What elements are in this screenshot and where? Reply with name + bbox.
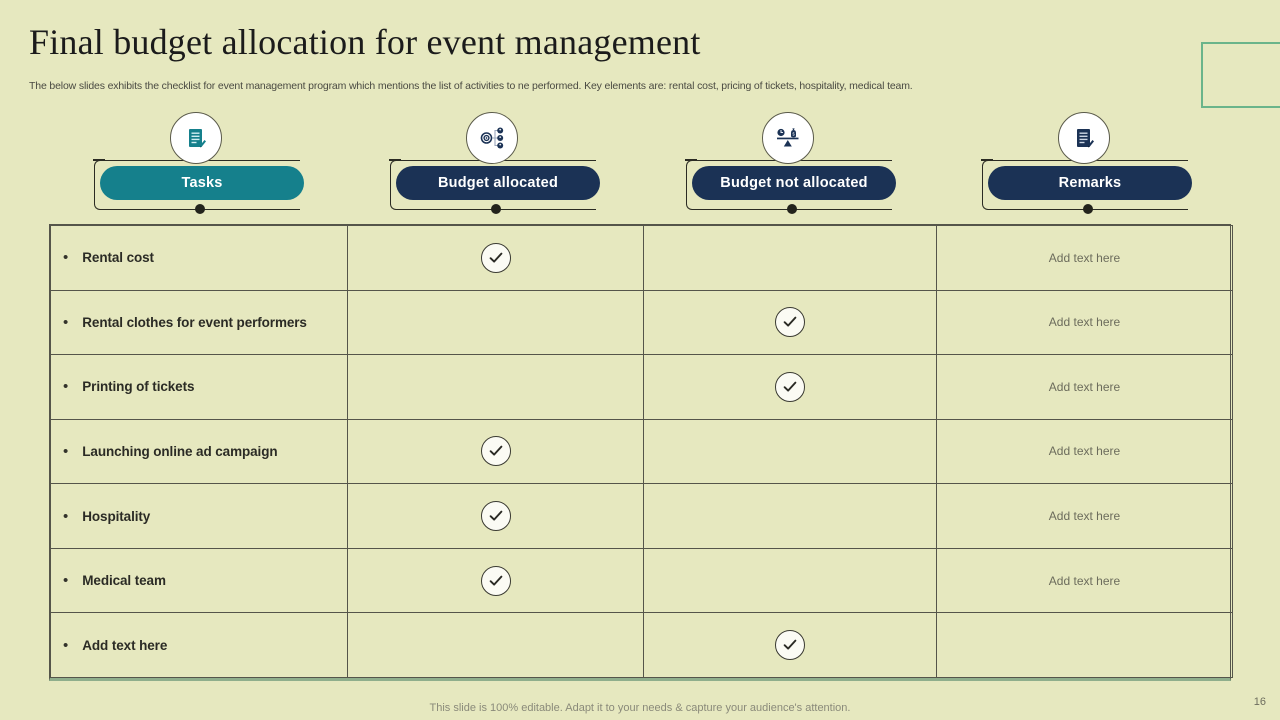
bullet-icon: •	[63, 573, 68, 588]
remark-cell[interactable]: Add text here	[937, 226, 1233, 291]
budget-allocated-cell[interactable]	[348, 290, 644, 355]
document-pen-icon	[1058, 112, 1110, 164]
network-hierarchy-icon	[466, 112, 518, 164]
budget-not-allocated-cell[interactable]	[644, 355, 937, 420]
task-label: Launching online ad campaign	[82, 444, 277, 459]
budget-not-allocated-cell[interactable]	[644, 548, 937, 613]
column-header-pills: Tasks Budget allocated	[0, 112, 1280, 212]
check-icon[interactable]	[481, 501, 511, 531]
task-cell: •Hospitality	[51, 484, 348, 549]
column-header-budget-not-allocated[interactable]: Budget not allocated $	[686, 112, 926, 212]
check-icon[interactable]	[481, 436, 511, 466]
remark-cell[interactable]: Add text here	[937, 484, 1233, 549]
pill-dot	[787, 204, 797, 214]
remark-cell[interactable]: Add text here	[937, 290, 1233, 355]
document-pen-icon	[170, 112, 222, 164]
balance-scale-icon: $	[762, 112, 814, 164]
remark-cell[interactable]: Add text here	[937, 548, 1233, 613]
table-row: •HospitalityAdd text here	[51, 484, 1233, 549]
task-cell: •Rental cost	[51, 226, 348, 291]
bullet-icon: •	[63, 315, 68, 330]
table-row: •Add text here	[51, 613, 1233, 678]
remark-text: Add text here	[1049, 574, 1120, 588]
check-icon[interactable]	[481, 243, 511, 273]
task-label: Hospitality	[82, 509, 150, 524]
remark-cell[interactable]: Add text here	[937, 355, 1233, 420]
task-label: Printing of tickets	[82, 379, 194, 394]
checklist-table: •Rental costAdd text here•Rental clothes…	[49, 224, 1231, 681]
bullet-icon: •	[63, 444, 68, 459]
table-row: •Printing of ticketsAdd text here	[51, 355, 1233, 420]
task-label: Rental clothes for event performers	[82, 315, 307, 330]
budget-not-allocated-cell[interactable]	[644, 484, 937, 549]
page-subtitle: The below slides exhibits the checklist …	[29, 80, 913, 92]
remark-text: Add text here	[1049, 380, 1120, 394]
budget-not-allocated-cell[interactable]	[644, 290, 937, 355]
pill-label-remarks[interactable]: Remarks	[988, 166, 1192, 200]
remark-text: Add text here	[1049, 509, 1120, 523]
footer-note: This slide is 100% editable. Adapt it to…	[0, 702, 1280, 714]
bullet-icon: •	[63, 250, 68, 265]
pill-dot	[195, 204, 205, 214]
pill-label-tasks[interactable]: Tasks	[100, 166, 304, 200]
pill-label-budget-allocated[interactable]: Budget allocated	[396, 166, 600, 200]
budget-not-allocated-cell[interactable]	[644, 613, 937, 678]
page-number: 16	[1254, 696, 1266, 708]
decorative-green-rectangle	[1201, 42, 1280, 108]
pill-dot	[1083, 204, 1093, 214]
check-icon[interactable]	[481, 566, 511, 596]
budget-allocated-cell[interactable]	[348, 355, 644, 420]
pill-dot	[491, 204, 501, 214]
check-icon[interactable]	[775, 630, 805, 660]
budget-allocated-cell[interactable]	[348, 484, 644, 549]
pill-label-budget-not-allocated[interactable]: Budget not allocated	[692, 166, 896, 200]
budget-not-allocated-cell[interactable]	[644, 226, 937, 291]
task-cell: •Rental clothes for event performers	[51, 290, 348, 355]
budget-allocated-cell[interactable]	[348, 548, 644, 613]
task-cell: •Launching online ad campaign	[51, 419, 348, 484]
bullet-icon: •	[63, 638, 68, 653]
check-icon[interactable]	[775, 372, 805, 402]
task-label: Add text here	[82, 638, 167, 653]
check-icon[interactable]	[775, 307, 805, 337]
budget-allocated-cell[interactable]	[348, 613, 644, 678]
remark-text: Add text here	[1049, 251, 1120, 265]
remark-cell[interactable]: Add text here	[937, 419, 1233, 484]
page-title: Final budget allocation for event manage…	[29, 21, 701, 63]
task-cell: •Medical team	[51, 548, 348, 613]
table-row: •Medical teamAdd text here	[51, 548, 1233, 613]
column-header-remarks[interactable]: Remarks	[982, 112, 1222, 212]
budget-not-allocated-cell[interactable]	[644, 419, 937, 484]
table-row: •Rental clothes for event performersAdd …	[51, 290, 1233, 355]
remark-text: Add text here	[1049, 315, 1120, 329]
bullet-icon: •	[63, 509, 68, 524]
task-label: Rental cost	[82, 250, 154, 265]
budget-allocated-cell[interactable]	[348, 419, 644, 484]
budget-allocated-cell[interactable]	[348, 226, 644, 291]
column-header-budget-allocated[interactable]: Budget allocated	[390, 112, 630, 212]
task-label: Medical team	[82, 573, 166, 588]
table-row: •Rental costAdd text here	[51, 226, 1233, 291]
remark-cell[interactable]	[937, 613, 1233, 678]
task-cell: •Printing of tickets	[51, 355, 348, 420]
bullet-icon: •	[63, 379, 68, 394]
table-row: •Launching online ad campaignAdd text he…	[51, 419, 1233, 484]
remark-text: Add text here	[1049, 444, 1120, 458]
task-cell: •Add text here	[51, 613, 348, 678]
column-header-tasks[interactable]: Tasks	[94, 112, 334, 212]
